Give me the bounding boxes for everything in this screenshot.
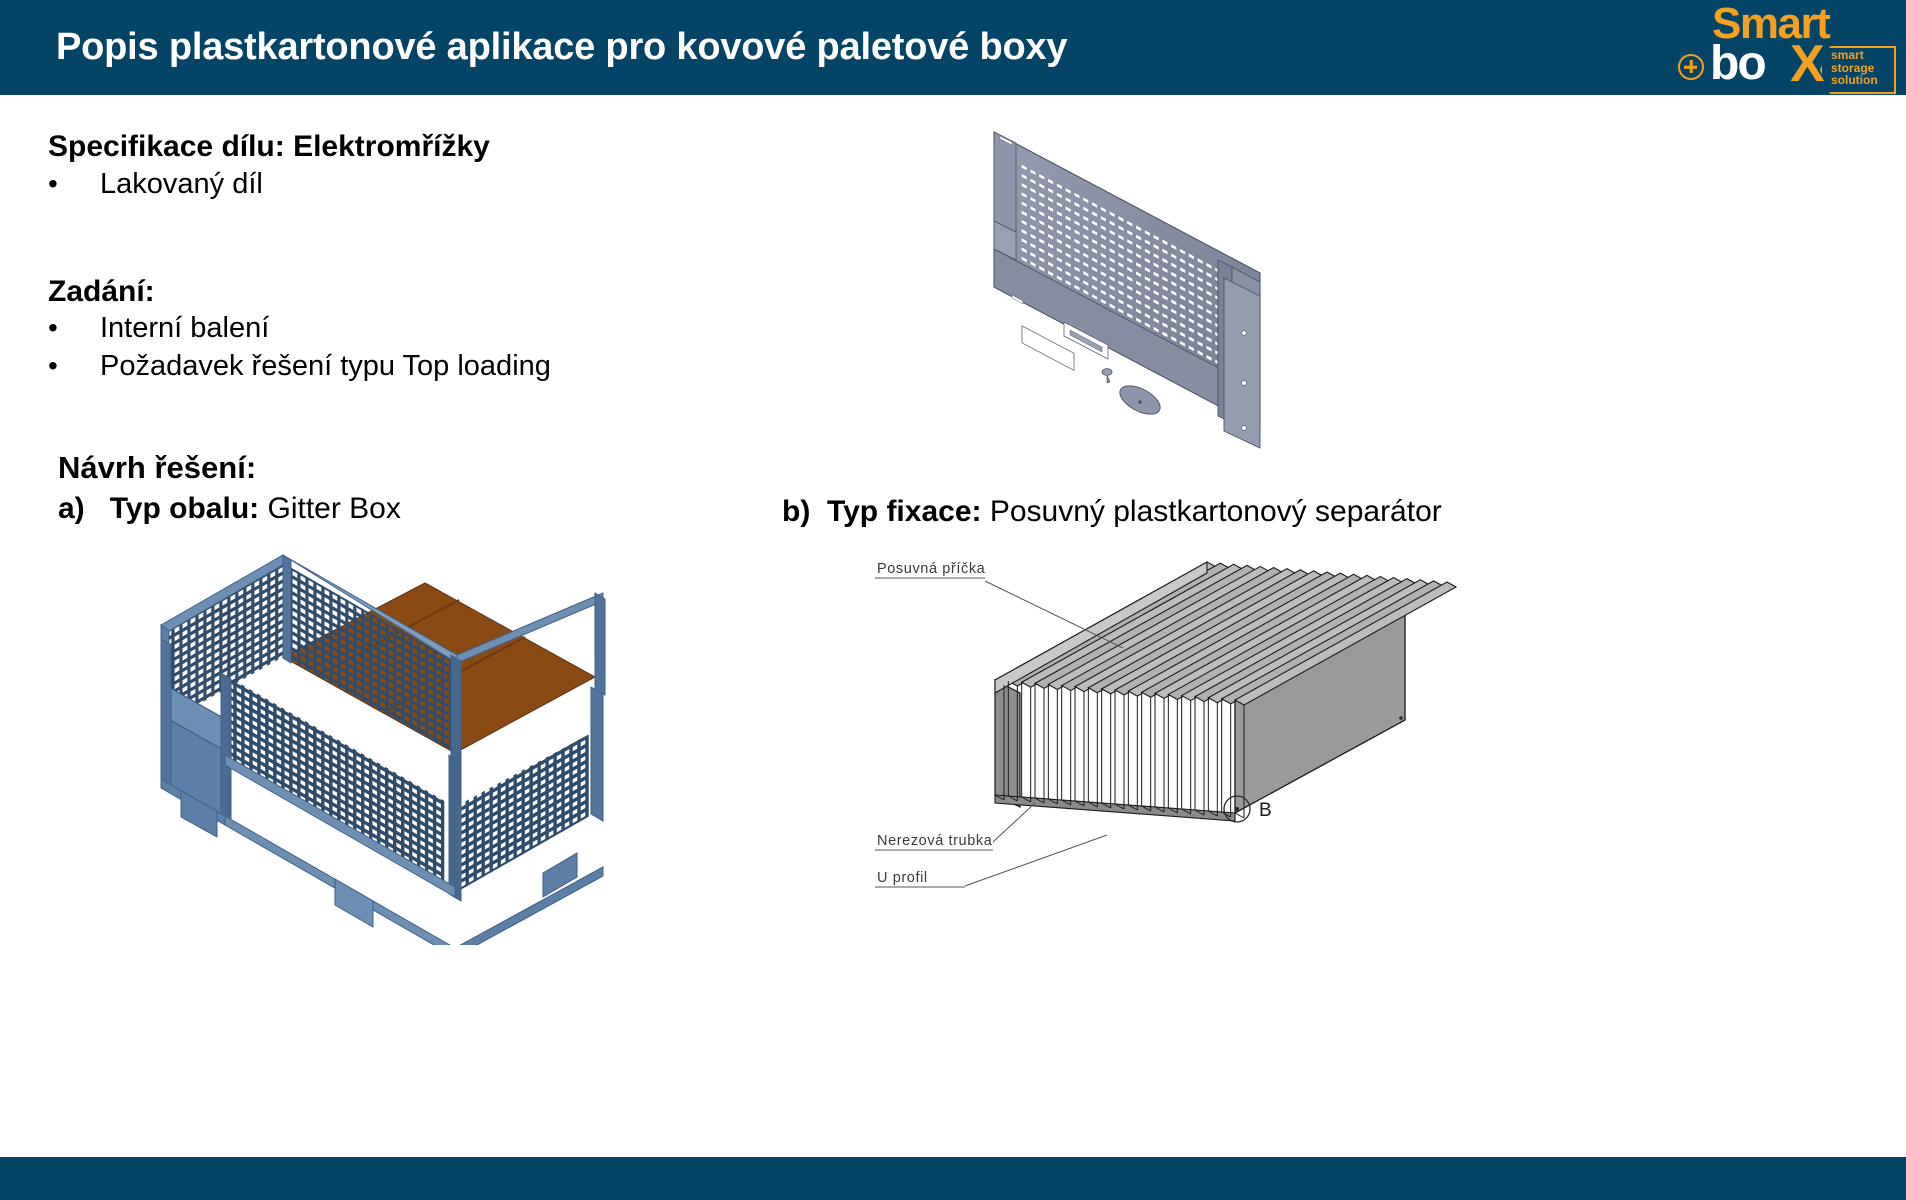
option-b-value: Posuvný plastkartonový separátor: [990, 495, 1442, 528]
list-item-label: Interní balení: [100, 312, 269, 345]
logo-tagline-line-1: smart: [1831, 49, 1893, 62]
spec-heading: Specifikace dílu: Elektromřížky: [48, 130, 490, 164]
page-title: Popis plastkartonové aplikace pro kovové…: [56, 26, 1067, 69]
footer-bar: [0, 1157, 1906, 1200]
list-item-label: Požadavek řešení typu Top loading: [100, 350, 551, 383]
header-bar: Popis plastkartonové aplikace pro kovové…: [0, 0, 1906, 95]
option-b-row: b) Typ fixace: Posuvný plastkartonový se…: [782, 495, 1442, 529]
option-b-label: Typ fixace:: [827, 495, 982, 528]
option-a-value: Gitter Box: [267, 492, 400, 525]
bullet-glyph: •: [48, 168, 100, 200]
logo-tagline: smart storage solution: [1831, 49, 1893, 87]
smartbox-logo: Smart bo X smart storage solution: [1668, 2, 1900, 94]
callout-nerezova-trubka-label: Nerezová trubka: [877, 833, 993, 849]
list-item-label: Lakovaný díl: [100, 168, 263, 201]
gitter-box-render: [125, 545, 665, 945]
sliding-plastic-cardboard-separator-drawing: B Posuvná příčka Nerezová trubka U profi…: [845, 545, 1465, 925]
logo-word-x: X: [1790, 38, 1823, 90]
option-a-label: Typ obalu:: [110, 492, 259, 525]
bullet-glyph: •: [48, 350, 100, 382]
list-item: • Interní balení: [48, 312, 269, 345]
bullet-glyph: •: [48, 312, 100, 344]
list-item: • Lakovaný díl: [48, 168, 263, 201]
perforated-metal-panel-render: [960, 110, 1440, 470]
detail-marker-label: B: [1259, 800, 1272, 821]
callout-posuvna-pricka-label: Posuvná příčka: [877, 561, 986, 577]
logo-tagline-line-3: solution: [1831, 74, 1893, 87]
callout-u-profil-label: U profil: [877, 870, 928, 886]
plus-circle-icon: [1678, 54, 1704, 80]
option-a-row: a) Typ obalu: Gitter Box: [58, 492, 401, 526]
logo-word-bo: bo: [1710, 40, 1765, 88]
option-b-marker: b): [782, 495, 810, 528]
leader-line-posuvna-pricka: [985, 581, 1123, 648]
option-a-marker: a): [58, 492, 85, 525]
navrh-heading: Návrh řešení:: [58, 450, 256, 486]
leader-line-nerezova-trubka: [993, 803, 1035, 842]
zadani-heading: Zadání:: [48, 275, 155, 309]
list-item: • Požadavek řešení typu Top loading: [48, 350, 551, 383]
